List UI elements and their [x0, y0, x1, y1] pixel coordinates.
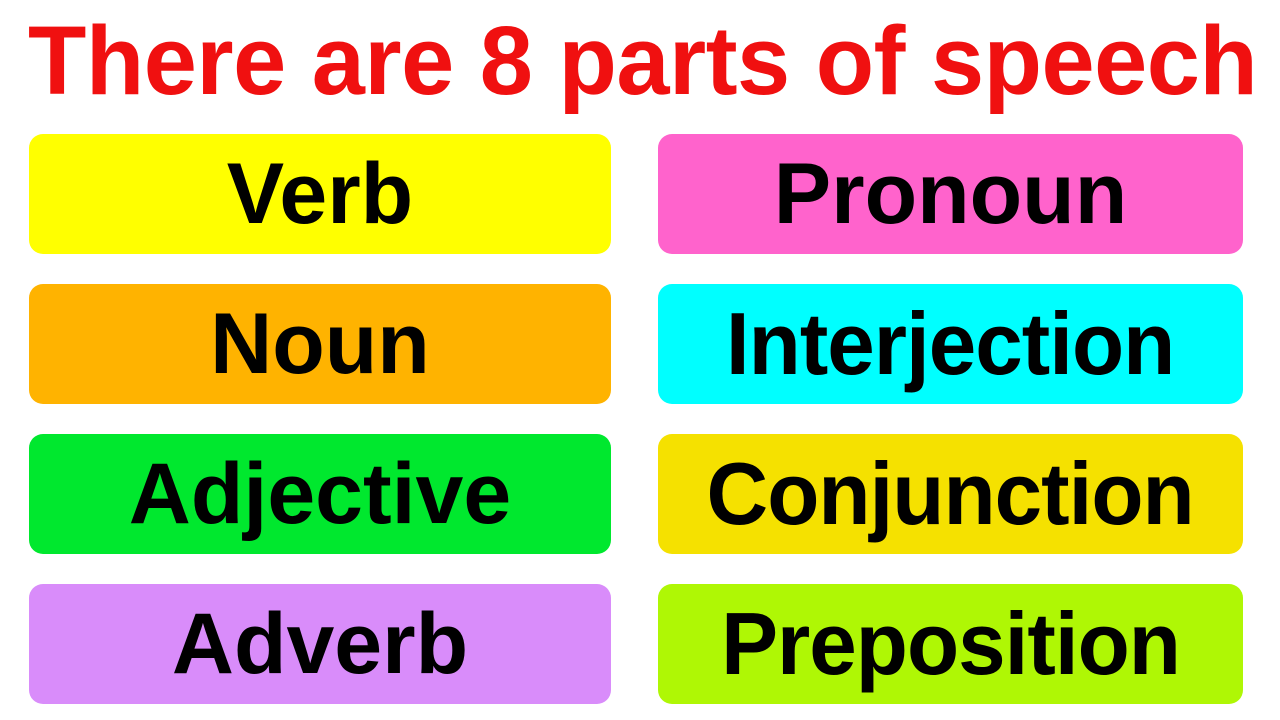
card-label-conjunction: Conjunction: [707, 450, 1194, 538]
parts-of-speech-grid: Verb Pronoun Noun Interjection Adjective…: [29, 134, 1243, 704]
card-label-interjection: Interjection: [726, 300, 1174, 388]
card-label-preposition: Preposition: [721, 600, 1180, 688]
card-noun: Noun: [29, 284, 611, 404]
parts-of-speech-poster: There are 8 parts of speech Verb Pronoun…: [0, 0, 1280, 720]
card-adverb: Adverb: [29, 584, 611, 704]
card-adjective: Adjective: [29, 434, 611, 554]
card-label-adjective: Adjective: [129, 451, 511, 537]
card-verb: Verb: [29, 134, 611, 254]
card-label-adverb: Adverb: [172, 601, 468, 687]
card-label-pronoun: Pronoun: [774, 151, 1128, 237]
card-conjunction: Conjunction: [658, 434, 1243, 554]
card-pronoun: Pronoun: [658, 134, 1243, 254]
page-title: There are 8 parts of speech: [28, 6, 1234, 114]
card-label-noun: Noun: [210, 301, 430, 387]
card-preposition: Preposition: [658, 584, 1243, 704]
card-label-verb: Verb: [227, 151, 413, 237]
card-interjection: Interjection: [658, 284, 1243, 404]
